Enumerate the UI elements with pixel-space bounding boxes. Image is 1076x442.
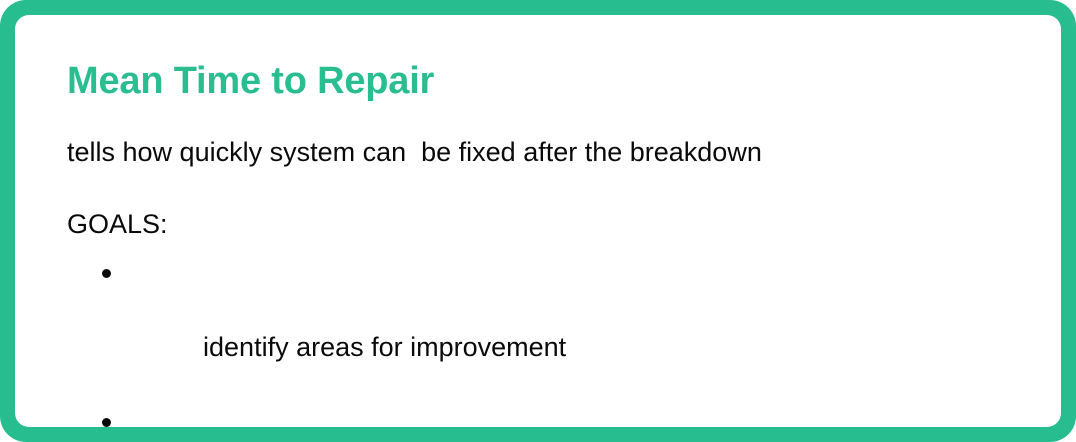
slide-card-body: Mean Time to Repair tells how quickly sy… — [15, 15, 1061, 427]
goals-heading: GOALS: — [67, 208, 1041, 240]
slide-card: Mean Time to Repair tells how quickly sy… — [0, 0, 1076, 442]
list-item: identify areas for improvement — [67, 255, 1041, 404]
bullet-icon — [102, 269, 111, 278]
list-item: show if maintenance strategies are worki… — [67, 404, 1041, 427]
definition-text: tells how quickly system can be fixed af… — [67, 136, 1041, 168]
slide-content: Mean Time to Repair tells how quickly sy… — [67, 62, 1041, 427]
bullet-icon — [102, 418, 111, 427]
goals-list: identify areas for improvement show if m… — [67, 255, 1041, 427]
page-title: Mean Time to Repair — [67, 62, 1041, 102]
list-item-label: identify areas for improvement — [203, 332, 566, 362]
